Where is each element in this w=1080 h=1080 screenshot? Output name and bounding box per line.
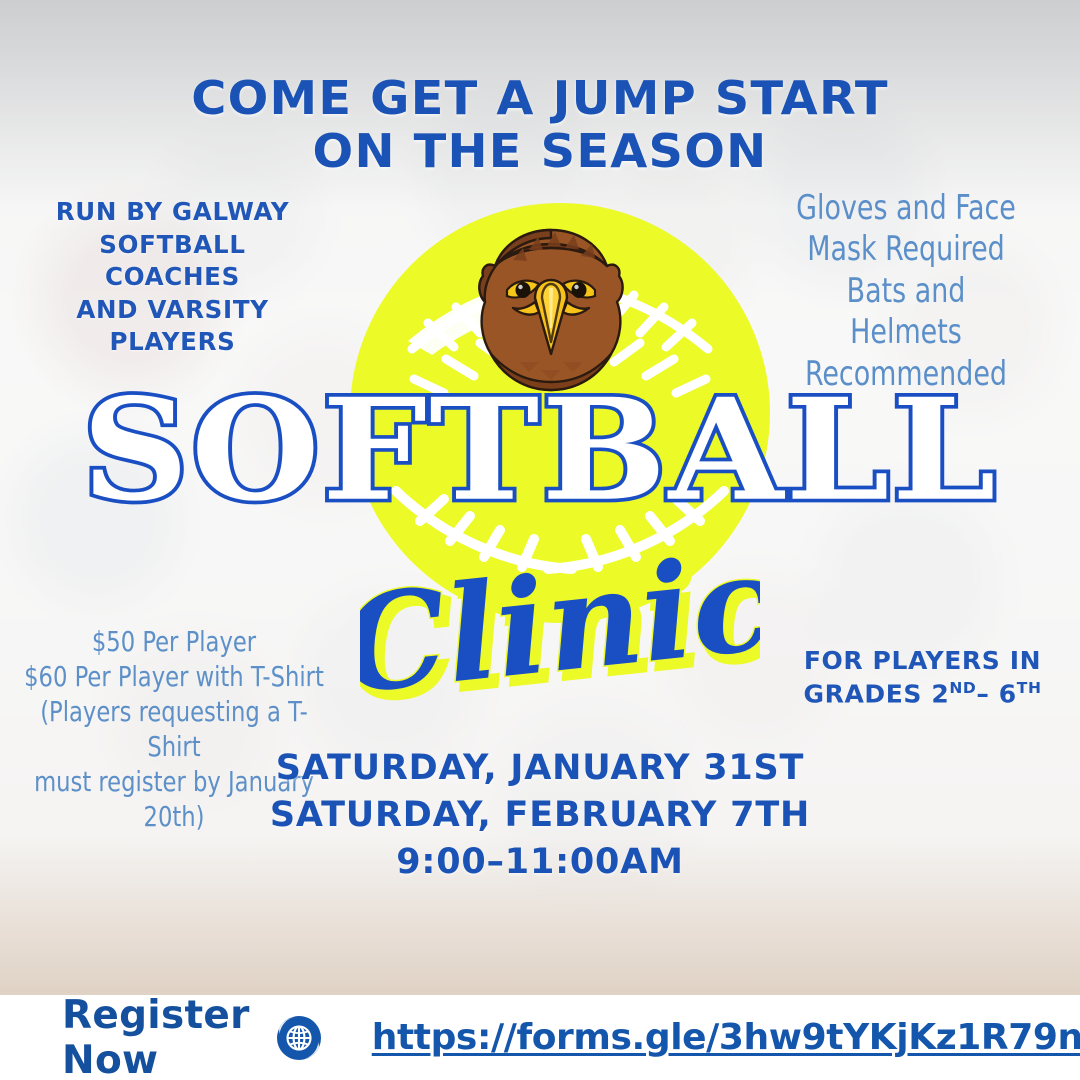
- run-by-line-2: SOFTBALL COACHES: [40, 229, 305, 294]
- headline-line-1: COME GET A JUMP START: [0, 72, 1080, 125]
- footer-bar: Register Now https://forms.gle/3hw9tYKjK…: [0, 995, 1080, 1080]
- equipment-line-3: Bats and Helmets: [791, 271, 1022, 354]
- run-by-line-1: RUN BY GALWAY: [40, 196, 305, 229]
- dates-block: SATURDAY, JANUARY 31ST SATURDAY, FEBRUAR…: [255, 745, 825, 886]
- date-line-2: SATURDAY, FEBRUARY 7TH: [255, 792, 825, 839]
- date-line-1: SATURDAY, JANUARY 31ST: [255, 745, 825, 792]
- equipment-line-2: Mask Required: [791, 229, 1022, 270]
- headline-line-2: ON THE SEASON: [0, 125, 1080, 178]
- softball-clinic-flyer: COME GET A JUMP START ON THE SEASON RUN …: [0, 0, 1080, 1080]
- run-by-block: RUN BY GALWAY SOFTBALL COACHES AND VARSI…: [40, 196, 305, 359]
- registration-url-link[interactable]: https://forms.gle/3hw9tYKjKz1R79nh8: [372, 1017, 1080, 1058]
- run-by-line-3: AND VARSITY: [40, 294, 305, 327]
- grades-sup-th: TH: [1017, 679, 1042, 697]
- pricing-line-1: $50 Per Player: [23, 624, 325, 659]
- grades-mid: – 6: [976, 679, 1016, 708]
- run-by-line-4: PLAYERS: [40, 326, 305, 359]
- grades-prefix: GRADES 2: [803, 679, 949, 708]
- softball-wordmark: SOFTBALL: [0, 381, 1080, 521]
- grades-line-2: GRADES 2ND– 6TH: [790, 678, 1055, 711]
- pricing-line-2: $60 Per Player with T-Shirt: [23, 659, 325, 694]
- clinic-script-wordmark: Clinic Clinic: [360, 545, 760, 720]
- grades-line-1: FOR PLAYERS IN: [790, 645, 1055, 678]
- register-now-label: Register Now: [62, 993, 250, 1080]
- equipment-line-1: Gloves and Face: [791, 188, 1022, 229]
- grades-sup-nd: ND: [949, 679, 976, 697]
- grades-block: FOR PLAYERS IN GRADES 2ND– 6TH: [790, 645, 1055, 710]
- globe-icon: [276, 1015, 322, 1061]
- headline: COME GET A JUMP START ON THE SEASON: [0, 72, 1080, 179]
- equipment-requirements-block: Gloves and Face Mask Required Bats and H…: [791, 188, 1022, 395]
- time-line: 9:00–11:00AM: [255, 839, 825, 886]
- clinic-script-svg: Clinic Clinic: [360, 545, 760, 720]
